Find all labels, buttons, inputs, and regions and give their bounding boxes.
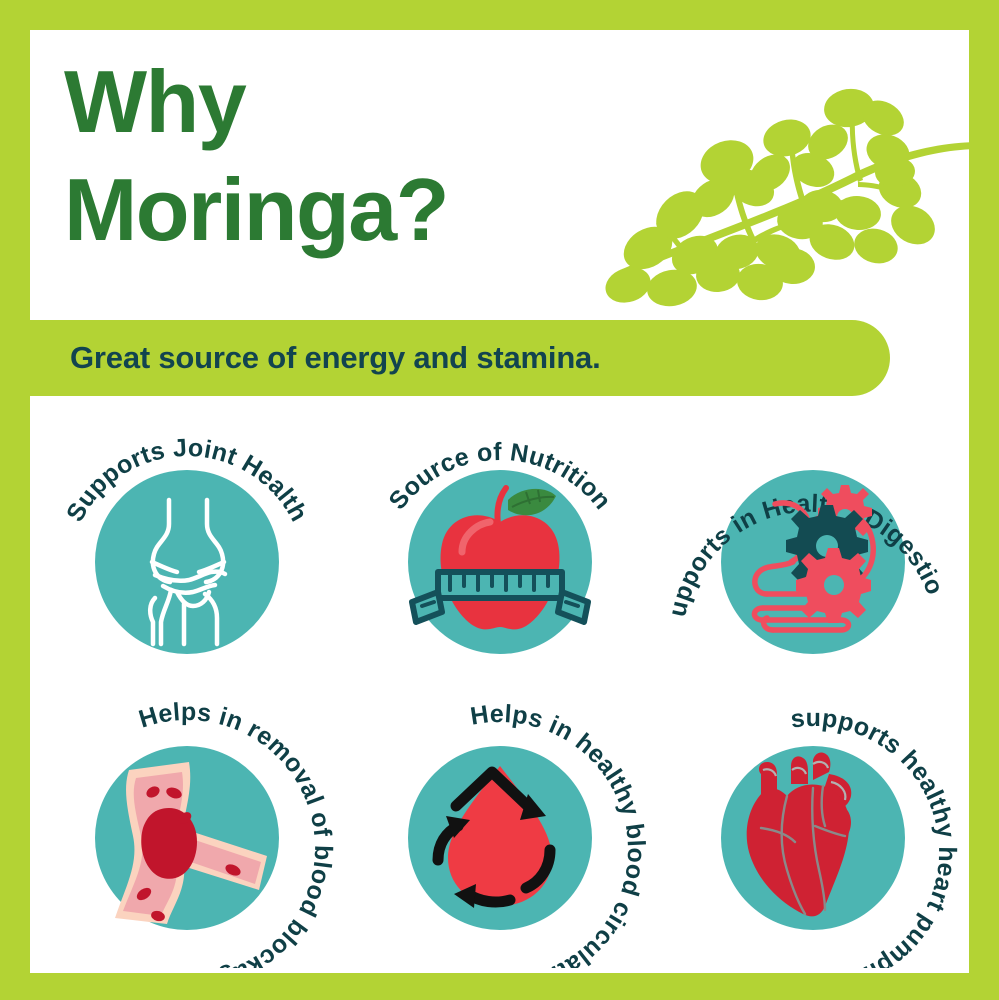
benefits-grid: Supports Joint Health [30,408,969,968]
benefit-badge-heart-pumping[interactable]: supports healthy heart pumping [656,688,969,968]
page-title: Why Moringa? [64,48,624,264]
badge-graphic: supports healthy heart pumping [663,688,963,968]
infographic-poster: Why Moringa? [0,0,999,1000]
badge-graphic: Source of Nutrition [350,412,650,684]
badge-graphic: Helps in removal of blood blockages [37,688,337,968]
badge-circle [95,470,279,654]
title-line-1: Why [64,48,624,156]
subtitle-text: Great source of energy and stamina. [30,340,601,376]
title-line-2: Moringa? [64,156,624,264]
benefit-badge-blood-circulation[interactable]: Helps in healthy blood circulation [343,688,656,968]
benefit-badge-blood-blockages[interactable]: Helps in removal of blood blockages [30,688,343,968]
benefit-badge-digestion[interactable]: supports in Healthy Digestion [656,408,969,688]
benefit-badge-joint-health[interactable]: Supports Joint Health [30,408,343,688]
gear-icon-medium-pink [796,548,871,623]
badge-graphic: Helps in healthy blood circulation [350,688,650,968]
badge-graphic: supports in Healthy Digestion [663,412,963,684]
subtitle-banner: Great source of energy and stamina. [30,320,890,396]
badge-graphic: Supports Joint Health [37,412,337,684]
benefit-badge-nutrition[interactable]: Source of Nutrition [343,408,656,688]
